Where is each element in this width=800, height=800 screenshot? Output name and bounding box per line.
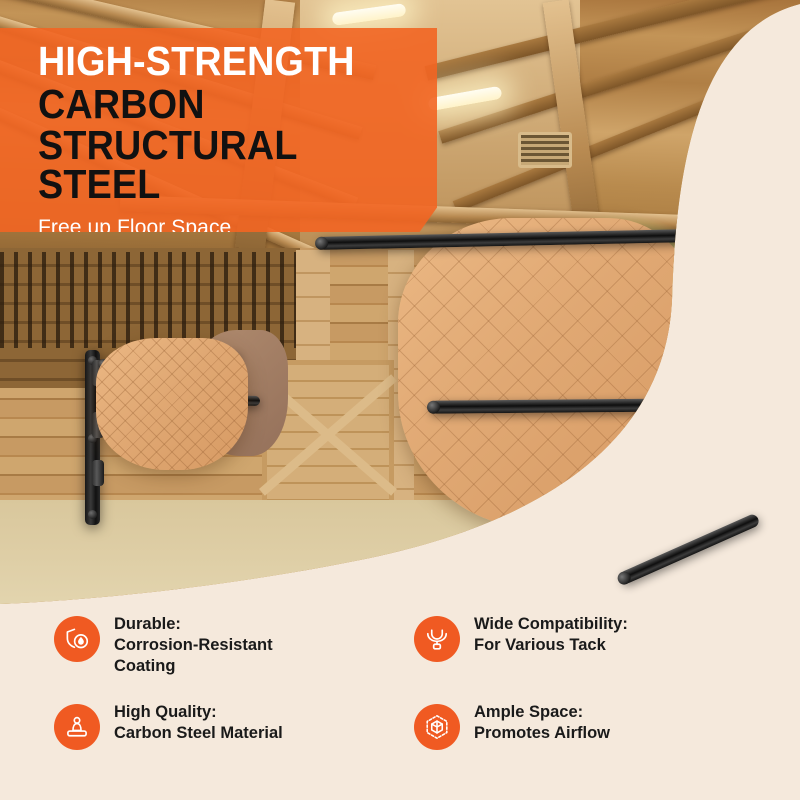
feature-text-quality: High Quality: Carbon Steel Material: [114, 698, 283, 744]
headline-line-3: STRUCTURAL STEEL: [38, 126, 405, 203]
feature-item-durable: Durable: Corrosion-Resistant Coating: [54, 610, 404, 694]
feature-item-space: Ample Space: Promotes Airflow: [414, 698, 764, 782]
saddle-bracket-icon: [414, 616, 460, 662]
feature-list: Durable: Corrosion-Resistant Coating Wid…: [0, 600, 800, 800]
headline-line-1: HIGH-STRENGTH: [38, 42, 405, 81]
screw-icon: [88, 510, 97, 519]
screw-icon: [747, 374, 756, 383]
feature-title: High Quality:: [114, 703, 217, 721]
feature-detail-2: Coating: [114, 656, 273, 677]
feature-item-quality: High Quality: Carbon Steel Material: [54, 698, 404, 782]
cube-airflow-icon: [414, 704, 460, 750]
feature-title: Durable:: [114, 615, 181, 633]
main-saddle-pad: [398, 218, 698, 528]
feature-detail-1: Carbon Steel Material: [114, 723, 283, 744]
feature-title: Wide Compatibility:: [474, 615, 628, 633]
main-arm-mid: [430, 398, 742, 414]
feature-text-space: Ample Space: Promotes Airflow: [474, 698, 610, 744]
feature-text-durable: Durable: Corrosion-Resistant Coating: [114, 610, 273, 677]
feature-title: Ample Space:: [474, 703, 583, 721]
screw-icon: [747, 287, 756, 296]
feature-item-compatibility: Wide Compatibility: For Various Tack: [414, 610, 764, 694]
roof-vent: [518, 132, 572, 168]
main-bracket-top: [732, 306, 747, 350]
header-banner: HIGH-STRENGTH CARBON STRUCTURAL STEEL Fr…: [0, 28, 437, 232]
main-bracket-mid: [732, 392, 747, 436]
screw-icon: [747, 464, 756, 473]
headline-line-2: CARBON: [38, 85, 405, 124]
secondary-bracket: [92, 460, 104, 486]
screw-icon: [747, 544, 756, 553]
feature-detail-1: Promotes Airflow: [474, 723, 610, 744]
weight-platform-icon: [54, 704, 100, 750]
feature-detail-1: For Various Tack: [474, 635, 628, 656]
shield-droplet-icon: [54, 616, 100, 662]
feature-text-compatibility: Wide Compatibility: For Various Tack: [474, 610, 628, 656]
main-arm-bottom: [618, 513, 760, 586]
feature-detail-1: Corrosion-Resistant: [114, 635, 273, 656]
secondary-saddle-pad: [96, 338, 248, 470]
